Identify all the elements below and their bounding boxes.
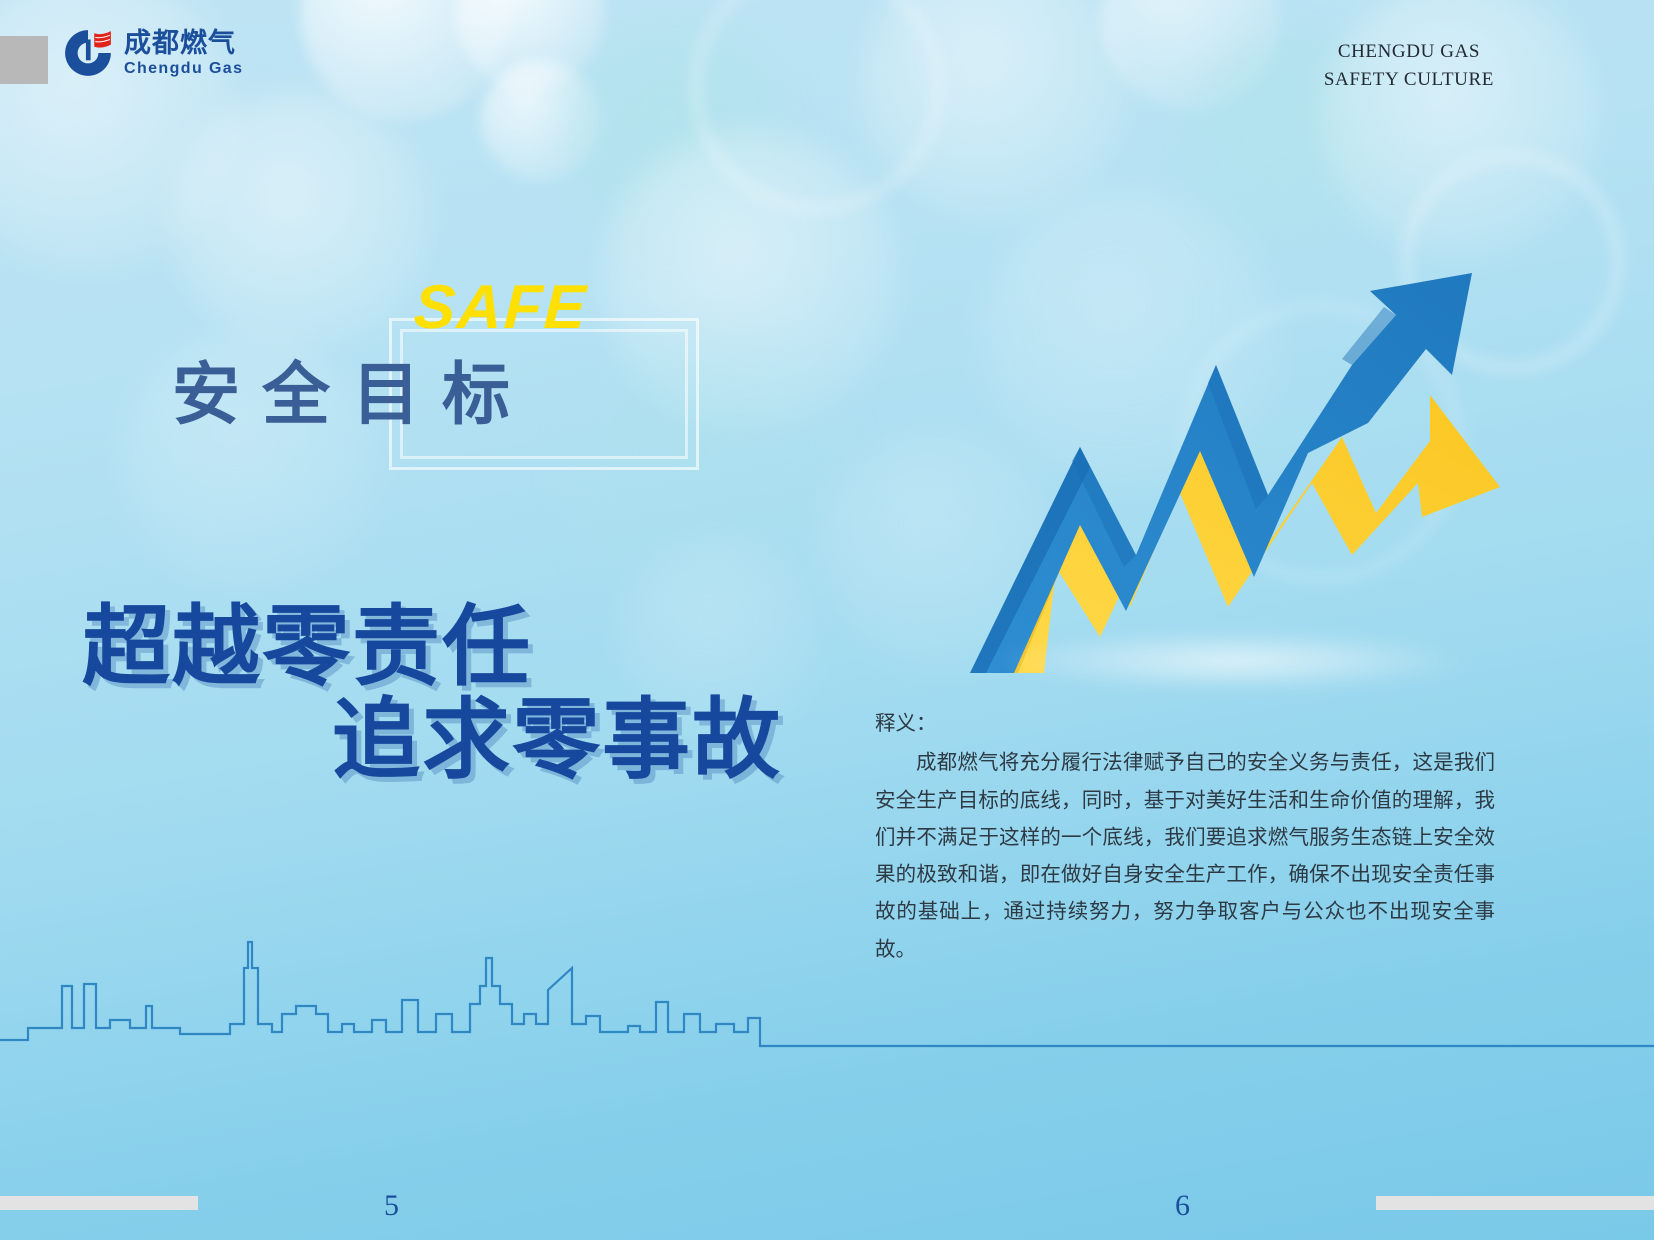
slide-canvas: 成都燃气 Chengdu Gas CHENGDU GAS SAFETY CULT… <box>0 0 1654 1240</box>
city-skyline-decoration <box>0 928 1654 1058</box>
main-slogan: 超越零责任 追求零事故 <box>82 600 782 787</box>
slogan-line-1: 超越零责任 <box>82 600 782 693</box>
explanation-label: 释义： <box>875 705 1495 742</box>
brand-logo: 成都燃气 Chengdu Gas <box>62 27 243 79</box>
logo-english-name: Chengdu Gas <box>124 61 243 77</box>
logo-chinese-name: 成都燃气 <box>124 30 243 57</box>
footer-bar-left <box>0 1196 198 1210</box>
arrows-svg <box>960 255 1520 675</box>
section-chinese-title: 安全目标 <box>172 361 532 429</box>
corner-title-line-1: CHENGDU GAS <box>1324 38 1494 66</box>
corner-tab-decoration <box>0 36 48 84</box>
page-number-left: 5 <box>384 1189 399 1223</box>
page-number-right: 6 <box>1175 1189 1190 1223</box>
corner-title-line-2: SAFETY CULTURE <box>1324 66 1494 94</box>
section-english-word: SAFE <box>412 277 589 339</box>
slogan-line-2: 追求零事故 <box>82 693 782 786</box>
corner-title: CHENGDU GAS SAFETY CULTURE <box>1324 38 1494 93</box>
arrow-ground-shadow <box>1000 631 1470 691</box>
footer-bar-right <box>1376 1196 1654 1210</box>
chengdu-gas-logo-mark-icon <box>62 27 114 79</box>
zigzag-growth-arrows-graphic <box>960 255 1520 675</box>
